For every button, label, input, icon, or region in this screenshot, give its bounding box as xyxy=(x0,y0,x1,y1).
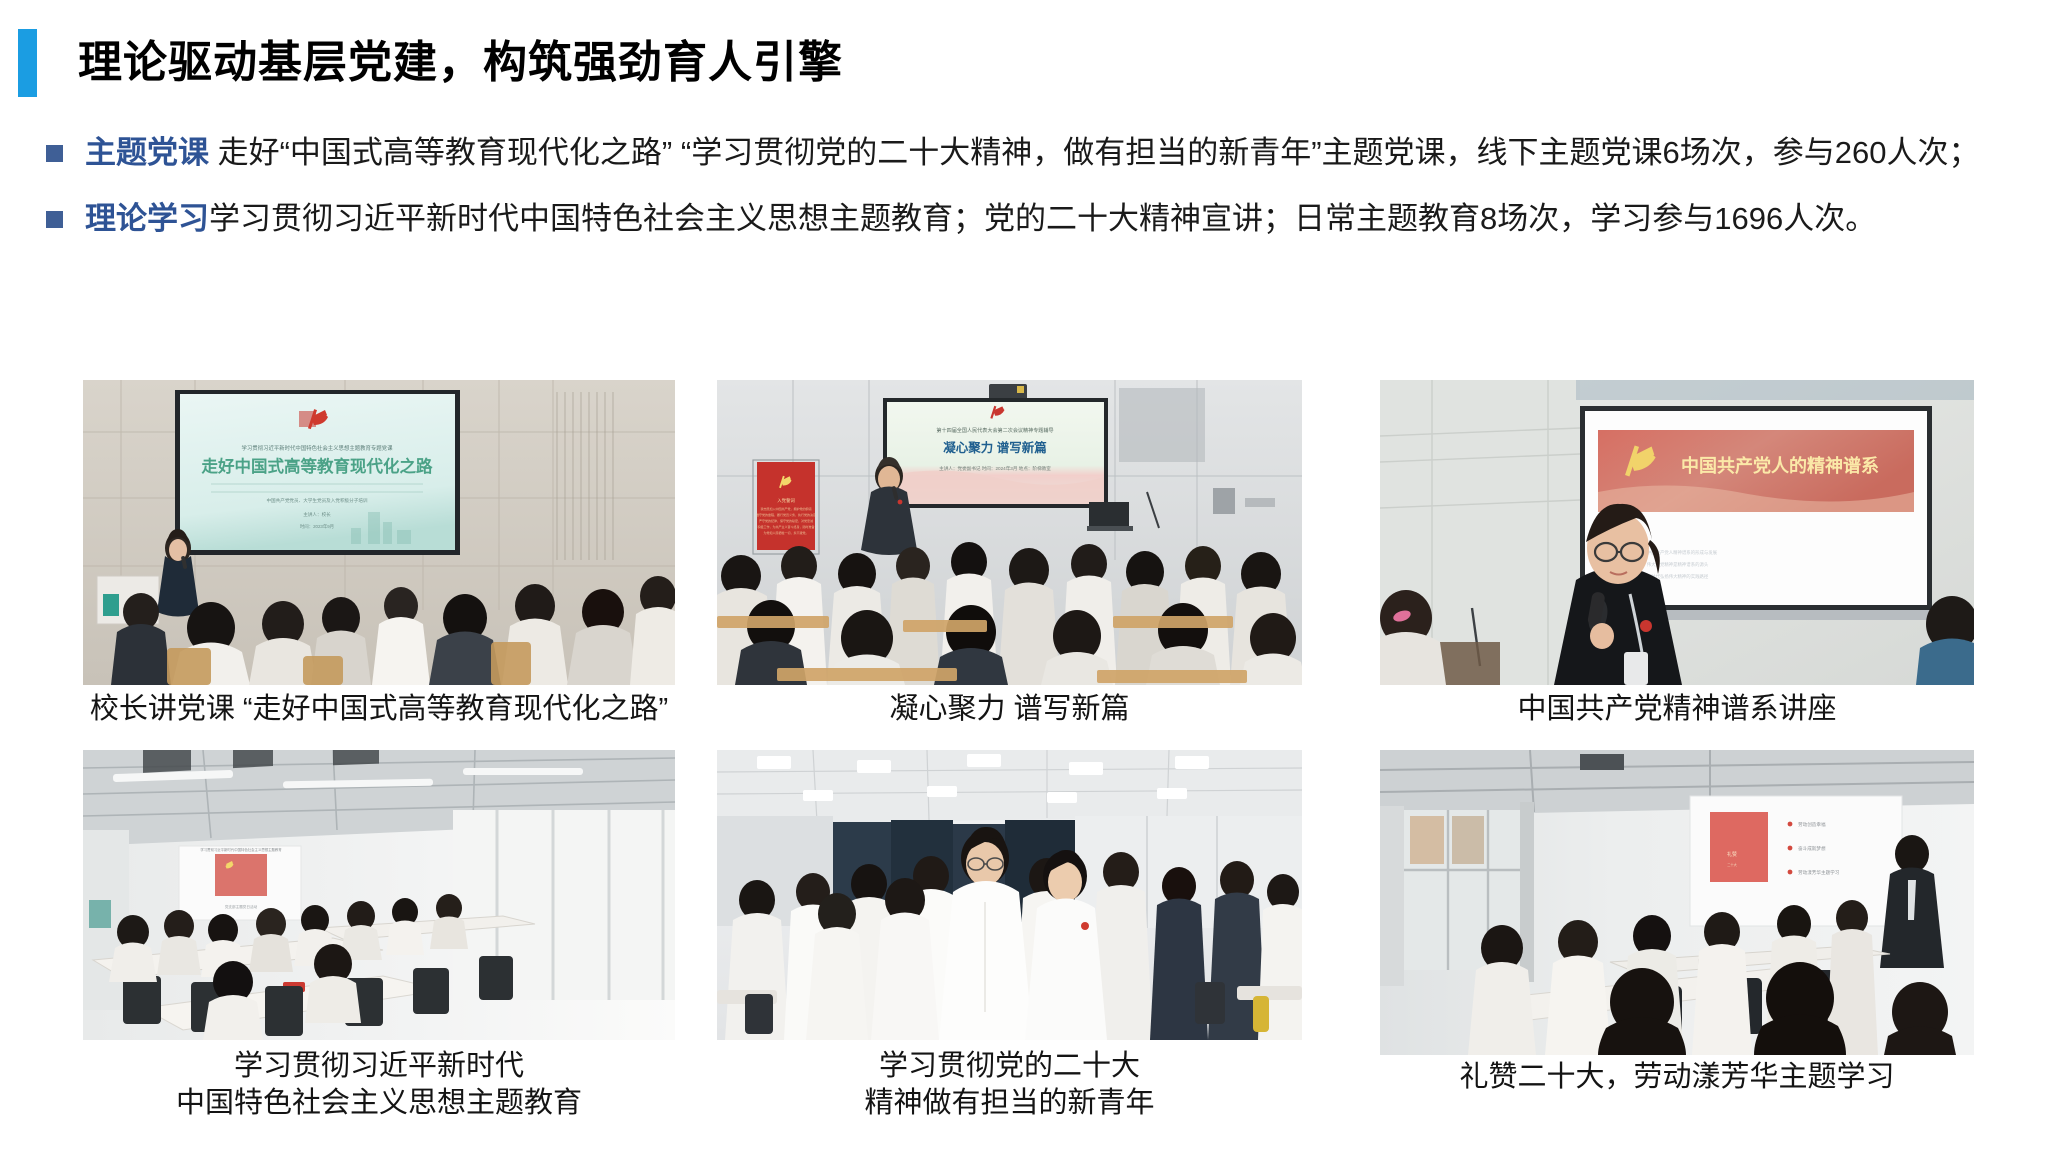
photo-cell-unity-new-chapter: 第十四届全国人民代表大会第二次会议精神专题辅导 凝心聚力 谱写新篇 主讲人：党委… xyxy=(717,380,1302,728)
bullet-lead-label: 主题党课 xyxy=(85,135,209,170)
photo-caption: 校长讲党课 “走好中国式高等教育现代化之路” xyxy=(83,691,675,728)
photo-cell-xi-thought-education: 学习贯彻习近平新时代中国特色社会主义思想主题教育 党支部主题党日活动 xyxy=(83,750,675,1122)
scene-students-standing-white-shirts xyxy=(717,750,1302,1040)
photo-cell-youth-20th-congress: 学习贯彻党的二十大 精神做有担当的新青年 xyxy=(717,750,1302,1122)
page-title: 理论驱动基层党建，构筑强劲育人引擎 xyxy=(0,26,843,100)
bullet-detail-text: 走好“中国式高等教育现代化之路” “学习贯彻党的二十大精神，做有担当的新青年”主… xyxy=(209,135,1979,170)
svg-text:中国共产党人的精神谱系: 中国共产党人的精神谱系 xyxy=(1681,455,1879,476)
svg-text:凝心聚力 谱写新篇: 凝心聚力 谱写新篇 xyxy=(943,440,1046,455)
svg-text:奋斗成就梦想: 奋斗成就梦想 xyxy=(1798,845,1826,852)
svg-text:礼赞: 礼赞 xyxy=(1727,851,1737,858)
svg-text:为党和人民牺牲一切，永不叛党。: 为党和人民牺牲一切，永不叛党。 xyxy=(763,530,808,535)
svg-text:第十四届全国人民代表大会第二次会议精神专题辅导: 第十四届全国人民代表大会第二次会议精神专题辅导 xyxy=(936,427,1053,434)
square-bullet-icon xyxy=(46,211,63,228)
scene-lecture-female-mic: 中国共产党人的精神谱系 目录 一、中国共产党人精神谱系的形成与发展 二、伟大建党… xyxy=(1380,380,1974,685)
bullet-text: 理论学习学习贯彻习近平新时代中国特色社会主义思想主题教育；党的二十大精神宣讲；日… xyxy=(85,194,2021,244)
photo-principal-lecture: 学习贯彻习近平新时代中国特色社会主义思想主题教育专题党课 走好中国式高等教育现代… xyxy=(83,380,675,685)
photo-caption: 学习贯彻党的二十大 精神做有担当的新青年 xyxy=(717,1048,1302,1122)
photo-spirit-lineage-lecture: 中国共产党人的精神谱系 目录 一、中国共产党人精神谱系的形成与发展 二、伟大建党… xyxy=(1380,380,1974,685)
svg-text:党支部主题党日活动: 党支部主题党日活动 xyxy=(225,904,258,909)
svg-text:入党誓词: 入党誓词 xyxy=(777,497,795,504)
bullet-detail-text: 学习贯彻习近平新时代中国特色社会主义思想主题教育；党的二十大精神宣讲；日常主题教… xyxy=(209,201,1876,236)
svg-text:主讲人：校长: 主讲人：校长 xyxy=(303,511,331,518)
svg-text:时间：2023年9月: 时间：2023年9月 xyxy=(300,523,334,530)
title-accent-bar xyxy=(18,29,37,97)
bullet-lead-label: 理论学习 xyxy=(85,201,209,236)
square-bullet-icon xyxy=(46,145,63,162)
svg-text:遵守党的章程，履行党员义务，执行党的决定: 遵守党的章程，履行党员义务，执行党的决定 xyxy=(756,512,816,517)
svg-text:一、中国共产党人精神谱系的形成与发展: 一、中国共产党人精神谱系的形成与发展 xyxy=(1638,549,1718,556)
svg-text:劳动创造幸福: 劳动创造幸福 xyxy=(1798,821,1826,828)
svg-text:走好中国式高等教育现代化之路: 走好中国式高等教育现代化之路 xyxy=(202,456,434,476)
scene-classroom-male-speaker: 第十四届全国人民代表大会第二次会议精神专题辅导 凝心聚力 谱写新篇 主讲人：党委… xyxy=(717,380,1302,685)
photo-caption: 礼赞二十大，劳动漾芳华主题学习 xyxy=(1380,1059,1974,1096)
svg-text:积极工作，为共产主义奋斗终身，随时准备: 积极工作，为共产主义奋斗终身，随时准备 xyxy=(757,524,814,529)
svg-text:中国共产党党员、大学生党员及入党积极分子培训: 中国共产党党员、大学生党员及入党积极分子培训 xyxy=(266,497,367,504)
scene-classroom-presenter-right: 礼赞 二十大 劳动创造幸福 奋斗成就梦想 劳动漾芳华主题学习 xyxy=(1380,750,1974,1055)
svg-text:二、伟大建党精神是精神谱系的源头: 二、伟大建党精神是精神谱系的源头 xyxy=(1638,561,1709,568)
photo-caption: 凝心聚力 谱写新篇 xyxy=(717,691,1302,728)
bullet-item-theme-class: 主题党课 走好“中国式高等教育现代化之路” “学习贯彻党的二十大精神，做有担当的… xyxy=(46,128,2021,178)
photo-caption: 学习贯彻习近平新时代 中国特色社会主义思想主题教育 xyxy=(83,1048,675,1122)
svg-text:学习贯彻习近平新时代中国特色社会主义思想主题教育专题党课: 学习贯彻习近平新时代中国特色社会主义思想主题教育专题党课 xyxy=(242,444,394,452)
svg-text:我志愿加入中国共产党，拥护党的纲领: 我志愿加入中国共产党，拥护党的纲领 xyxy=(760,506,811,511)
svg-text:严守党的纪律，保守党的秘密，对党忠诚: 严守党的纪律，保守党的秘密，对党忠诚 xyxy=(759,518,813,523)
svg-text:学习贯彻习近平新时代中国特色社会主义思想主题教育: 学习贯彻习近平新时代中国特色社会主义思想主题教育 xyxy=(200,847,282,852)
svg-text:主讲人：党委副书记 时间：2024年3月 地点：阶梯教室: 主讲人：党委副书记 时间：2024年3月 地点：阶梯教室 xyxy=(939,465,1051,472)
slide-root: 理论驱动基层党建，构筑强劲育人引擎 主题党课 走好“中国式高等教育现代化之路” … xyxy=(0,0,2048,1152)
photo-cell-labor-youth-study: 礼赞 二十大 劳动创造幸福 奋斗成就梦想 劳动漾芳华主题学习 xyxy=(1380,750,1974,1096)
photo-cell-spirit-lineage: 中国共产党人的精神谱系 目录 一、中国共产党人精神谱系的形成与发展 二、伟大建党… xyxy=(1380,380,1974,728)
svg-text:二十大: 二十大 xyxy=(1727,862,1737,867)
photo-unity-new-chapter: 第十四届全国人民代表大会第二次会议精神专题辅导 凝心聚力 谱写新篇 主讲人：党委… xyxy=(717,380,1302,685)
scene-auditorium-female-speaker: 学习贯彻习近平新时代中国特色社会主义思想主题教育专题党课 走好中国式高等教育现代… xyxy=(83,380,675,685)
photo-caption: 中国共产党精神谱系讲座 xyxy=(1380,691,1974,728)
svg-text:劳动漾芳华主题学习: 劳动漾芳华主题学习 xyxy=(1798,869,1840,876)
photo-cell-principal-lecture: 学习贯彻习近平新时代中国特色社会主义思想主题教育专题党课 走好中国式高等教育现代… xyxy=(83,380,675,728)
photo-xi-thought-education: 学习贯彻习近平新时代中国特色社会主义思想主题教育 党支部主题党日活动 xyxy=(83,750,675,1040)
scene-seminar-room-window: 学习贯彻习近平新时代中国特色社会主义思想主题教育 党支部主题党日活动 xyxy=(83,750,675,1040)
page-title-text: 理论驱动基层党建，构筑强劲育人引擎 xyxy=(78,41,843,85)
bullet-text: 主题党课 走好“中国式高等教育现代化之路” “学习贯彻党的二十大精神，做有担当的… xyxy=(85,128,2021,178)
bullet-list: 主题党课 走好“中国式高等教育现代化之路” “学习贯彻党的二十大精神，做有担当的… xyxy=(46,128,2021,260)
bullet-item-theory-study: 理论学习学习贯彻习近平新时代中国特色社会主义思想主题教育；党的二十大精神宣讲；日… xyxy=(46,194,2021,244)
photo-labor-youth-study: 礼赞 二十大 劳动创造幸福 奋斗成就梦想 劳动漾芳华主题学习 xyxy=(1380,750,1974,1055)
photo-youth-20th-congress xyxy=(717,750,1302,1040)
